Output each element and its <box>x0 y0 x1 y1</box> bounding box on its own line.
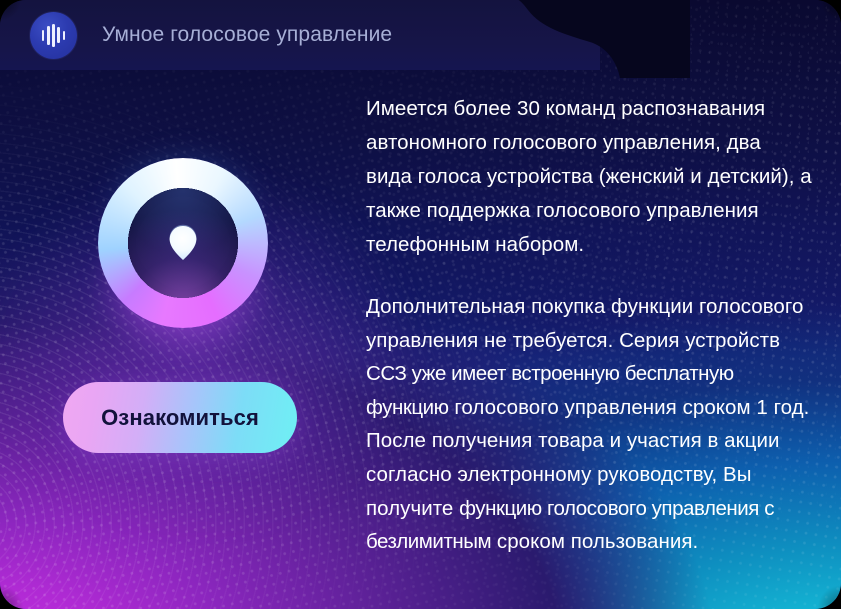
waveform-bar <box>42 30 45 41</box>
card-header: Умное голосовое управление <box>0 0 841 70</box>
voice-assistant-orb <box>98 158 268 328</box>
voice-control-promo-card: Умное голосовое управление Ознакомиться … <box>0 0 841 609</box>
waveform-bar <box>52 24 55 47</box>
page-title: Умное голосовое управление <box>102 23 392 47</box>
waveform-bar <box>63 31 66 40</box>
paragraph-two-part-a: Дополнительная покупка функции голосовог… <box>366 295 803 352</box>
learn-more-button[interactable]: Ознакомиться <box>63 382 297 453</box>
waveform-bar <box>57 27 60 43</box>
voice-waveform-icon <box>30 12 77 59</box>
waveform-bar <box>47 26 50 45</box>
paragraph-one: Имеется более 30 команд распознавания ав… <box>366 92 812 262</box>
paragraph-two-part-e: сроком пользования. <box>491 530 698 553</box>
paragraph-two: Дополнительная покупка функции голосовог… <box>366 290 812 559</box>
description-text: Имеется более 30 команд распознавания ав… <box>366 92 812 559</box>
